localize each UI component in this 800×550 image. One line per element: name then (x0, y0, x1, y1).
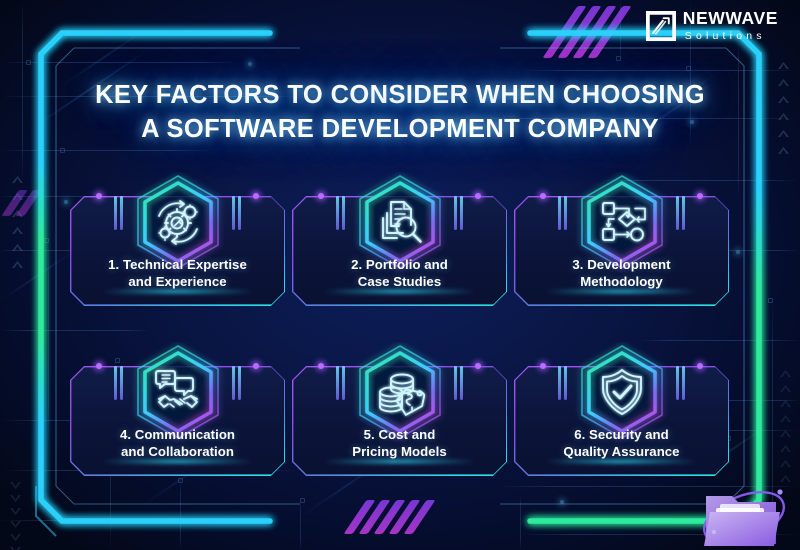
factor-card-4[interactable]: 4. Communicationand Collaboration (70, 348, 285, 476)
card-node-right (697, 193, 703, 199)
title-line-1: KEY FACTORS TO CONSIDER WHEN CHOOSING (0, 78, 800, 112)
chevron-marker (10, 495, 21, 502)
card-label-line-1: 2. Portfolio and (298, 256, 501, 273)
folder-orbit-icon (690, 468, 794, 550)
card-tick-marks-right (454, 196, 463, 230)
card-label: 2. Portfolio andCase Studies (298, 256, 501, 290)
card-tick-marks-left (558, 196, 567, 230)
card-tick-marks-right (676, 196, 685, 230)
card-bottom-glow (546, 290, 697, 293)
chevron-marker (12, 227, 23, 234)
chevron-marker (10, 521, 21, 528)
card-tick-marks-right (676, 366, 685, 400)
card-tick-marks-right (232, 366, 241, 400)
card-tick-marks-right (232, 196, 241, 230)
card-node-left (96, 363, 102, 369)
card-label-line-1: 5. Cost and (298, 426, 501, 443)
card-label-line-2: Methodology (520, 273, 723, 290)
wave-chart-icon (646, 11, 676, 41)
card-tick-marks-left (336, 366, 345, 400)
factor-card-6[interactable]: 6. Security andQuality Assurance (514, 348, 729, 476)
chevron-marker (780, 460, 791, 467)
card-label: 6. Security andQuality Assurance (520, 426, 723, 460)
logo-tagline: Solutions (683, 31, 778, 42)
card-label-line-2: Case Studies (298, 273, 501, 290)
card-bottom-glow (324, 290, 475, 293)
chevron-marker (780, 445, 791, 452)
card-bottom-glow (102, 290, 253, 293)
card-node-left (96, 193, 102, 199)
chevron-marker (10, 482, 21, 489)
card-label: 3. DevelopmentMethodology (520, 256, 723, 290)
chevron-marker (10, 508, 21, 515)
factor-card-3[interactable]: 3. DevelopmentMethodology (514, 178, 729, 306)
factor-card-2[interactable]: 2. Portfolio andCase Studies (292, 178, 507, 306)
factor-card-1[interactable]: 1. Technical Expertiseand Experience (70, 178, 285, 306)
chevron-marker (780, 400, 791, 407)
chevron-marker (780, 415, 791, 422)
title-line-2: A SOFTWARE DEVELOPMENT COMPANY (0, 112, 800, 146)
card-label-line-2: Pricing Models (298, 443, 501, 460)
card-node-right (697, 363, 703, 369)
card-node-left (540, 363, 546, 369)
chevron-marker (12, 261, 23, 268)
card-tick-marks-left (558, 366, 567, 400)
card-bottom-glow (546, 460, 697, 463)
logo-name: NEWWAVE (683, 10, 778, 28)
chevron-marker (778, 62, 789, 69)
card-bottom-glow (324, 460, 475, 463)
chevron-marker (10, 534, 21, 541)
card-tick-marks-right (454, 366, 463, 400)
card-label-line-1: 6. Security and (520, 426, 723, 443)
card-node-right (253, 363, 259, 369)
card-label-line-2: and Collaboration (76, 443, 279, 460)
card-label-line-1: 3. Development (520, 256, 723, 273)
card-node-right (475, 363, 481, 369)
infographic-canvas: NEWWAVE Solutions KEY FACTORS TO CONSIDE… (0, 0, 800, 550)
chevron-marker (780, 370, 791, 377)
card-label-line-2: Quality Assurance (520, 443, 723, 460)
card-label: 1. Technical Expertiseand Experience (76, 256, 279, 290)
brand-logo: NEWWAVE Solutions (646, 10, 778, 41)
card-node-left (318, 363, 324, 369)
card-tick-marks-left (336, 196, 345, 230)
card-label-line-1: 4. Communication (76, 426, 279, 443)
card-node-left (540, 193, 546, 199)
page-title: KEY FACTORS TO CONSIDER WHEN CHOOSING A … (0, 78, 800, 146)
chevron-marker (778, 147, 789, 154)
card-label: 4. Communicationand Collaboration (76, 426, 279, 460)
card-tick-marks-left (114, 196, 123, 230)
chevron-marker (780, 385, 791, 392)
card-tick-marks-left (114, 366, 123, 400)
card-label-line-2: and Experience (76, 273, 279, 290)
chevron-marker (12, 176, 23, 183)
chevron-marker (12, 244, 23, 251)
card-label: 5. Cost andPricing Models (298, 426, 501, 460)
card-node-left (318, 193, 324, 199)
factor-card-5[interactable]: 5. Cost andPricing Models (292, 348, 507, 476)
card-node-right (253, 193, 259, 199)
chevron-marker (780, 430, 791, 437)
card-node-right (475, 193, 481, 199)
card-bottom-glow (102, 460, 253, 463)
card-label-line-1: 1. Technical Expertise (76, 256, 279, 273)
